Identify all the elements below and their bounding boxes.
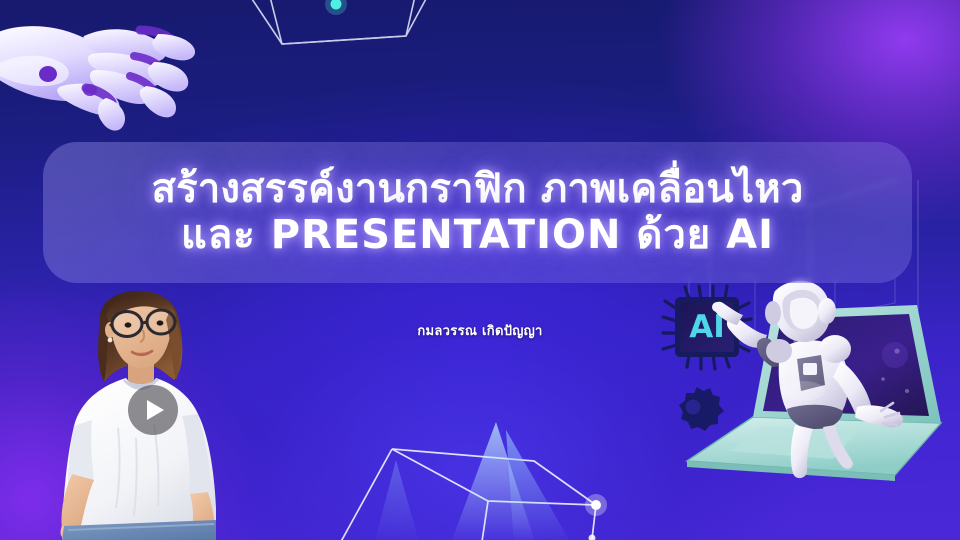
title-line-1: สร้างสรรค์งานกราฟิก ภาพเคลื่อนไหว [151, 168, 803, 211]
wireframe-cube-icon [210, 0, 470, 88]
play-button[interactable] [128, 385, 178, 435]
robot-hand-icon [0, 6, 218, 136]
play-triangle-icon [147, 400, 164, 420]
ai-robot-illustration: AI [645, 275, 960, 485]
title-panel: สร้างสรรค์งานกราฟิก ภาพเคลื่อนไหว และ PR… [43, 142, 912, 283]
gear-icon [679, 387, 724, 431]
title-line-2: และ PRESENTATION ด้วย AI [181, 213, 774, 258]
wireframe-polygon-icon [330, 415, 660, 540]
presenter-name: กมลวรรณ เกิดปัญญา [0, 320, 960, 341]
slide-canvas: AI [0, 0, 960, 540]
light-beam-decoration [300, 400, 680, 540]
